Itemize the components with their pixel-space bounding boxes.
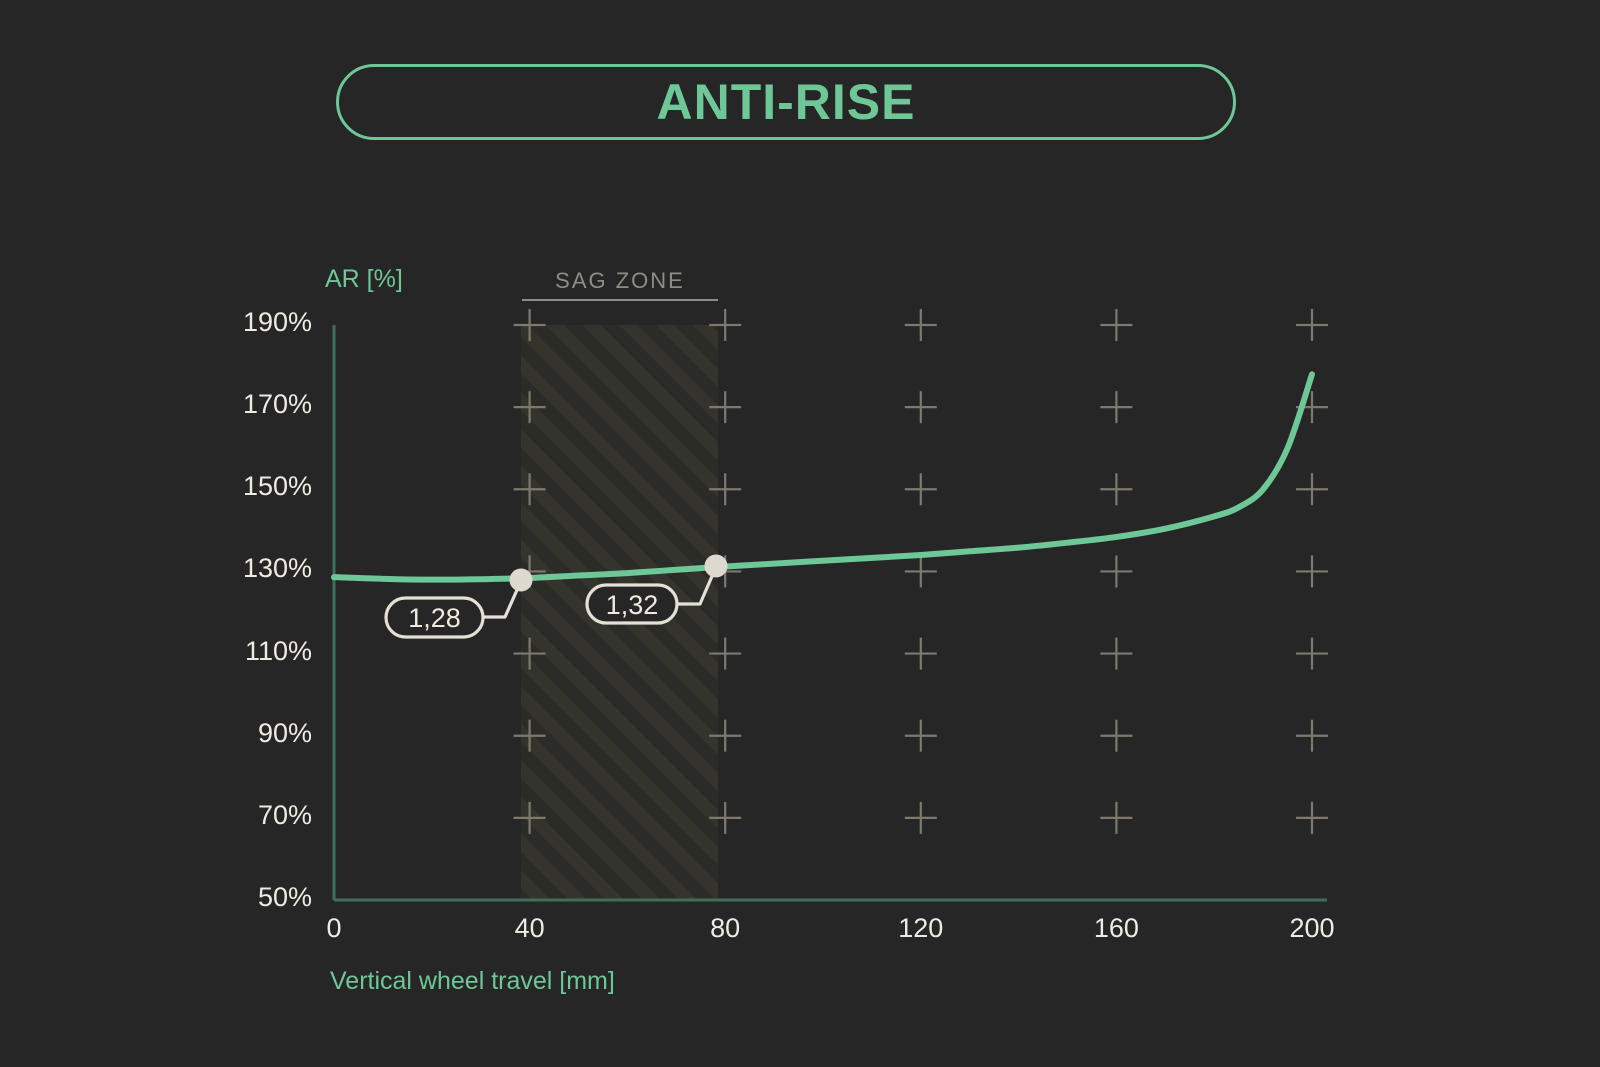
x-tick-label: 160 xyxy=(1076,913,1156,944)
anti-rise-chart: AR [%] Vertical wheel travel [mm] SAG ZO… xyxy=(0,0,1600,1067)
y-tick-label: 170% xyxy=(222,389,312,420)
x-tick-label: 200 xyxy=(1272,913,1352,944)
y-tick-label: 130% xyxy=(222,553,312,584)
x-axis-title: Vertical wheel travel [mm] xyxy=(330,967,615,996)
callout-label-2: 1,32 xyxy=(587,590,677,621)
y-tick-label: 70% xyxy=(222,800,312,831)
y-tick-label: 50% xyxy=(222,882,312,913)
x-tick-label: 40 xyxy=(490,913,570,944)
y-tick-label: 150% xyxy=(222,471,312,502)
data-point-marker-2 xyxy=(706,556,727,577)
y-tick-label: 190% xyxy=(222,307,312,338)
x-tick-label: 0 xyxy=(294,913,374,944)
x-tick-label: 80 xyxy=(685,913,765,944)
sag-zone-label: SAG ZONE xyxy=(490,268,750,294)
anti-rise-curve xyxy=(334,374,1312,579)
x-tick-label: 120 xyxy=(881,913,961,944)
data-point-marker-1 xyxy=(511,570,532,591)
callout-label-1: 1,28 xyxy=(386,603,483,634)
y-tick-label: 90% xyxy=(222,718,312,749)
y-axis-title: AR [%] xyxy=(325,265,403,294)
y-tick-label: 110% xyxy=(222,636,312,667)
